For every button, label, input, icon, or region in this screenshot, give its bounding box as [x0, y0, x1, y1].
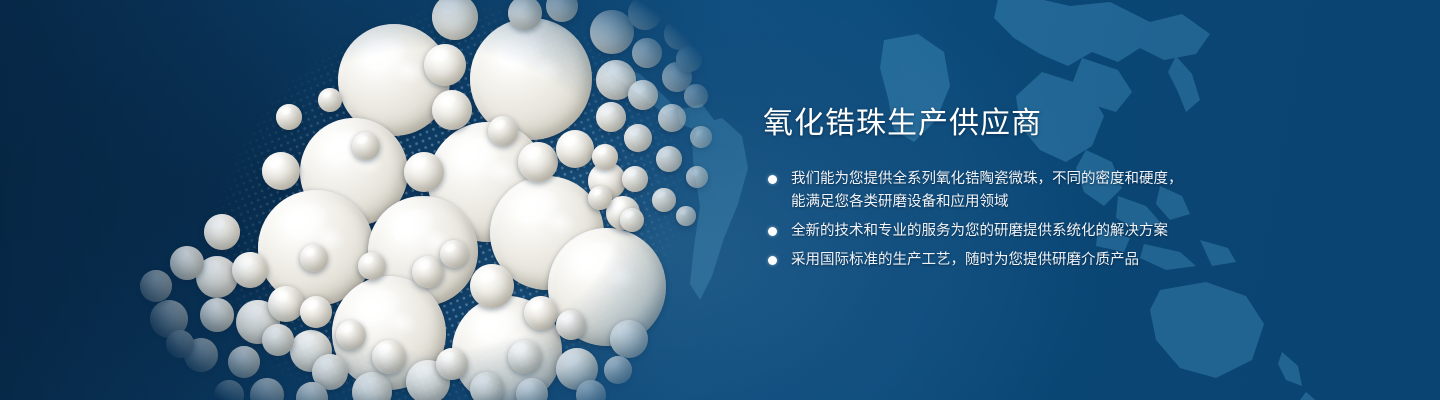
feature-list: 我们能为您提供全系列氧化锆陶瓷微珠，不同的密度和硬度， 能满足您各类研磨设备和应… [763, 168, 1383, 272]
page-title: 氧化锆珠生产供应商 [763, 104, 1383, 144]
list-item-line: 全新的技术和专业的服务为您的研磨提供系统化的解决方案 [791, 220, 1383, 243]
list-item: 我们能为您提供全系列氧化锆陶瓷微珠，不同的密度和硬度， 能满足您各类研磨设备和应… [763, 168, 1383, 214]
banner-copy: 氧化锆珠生产供应商 我们能为您提供全系列氧化锆陶瓷微珠，不同的密度和硬度， 能满… [763, 104, 1383, 278]
bullet-dot-icon [768, 227, 777, 236]
list-item-line: 采用国际标准的生产工艺，随时为您提供研磨介质产品 [791, 249, 1383, 272]
hero-banner: 氧化锆珠生产供应商 我们能为您提供全系列氧化锆陶瓷微珠，不同的密度和硬度， 能满… [0, 0, 1440, 400]
list-item: 采用国际标准的生产工艺，随时为您提供研磨介质产品 [763, 249, 1383, 272]
list-item-line: 能满足您各类研磨设备和应用领域 [791, 191, 1383, 214]
list-item: 全新的技术和专业的服务为您的研磨提供系统化的解决方案 [763, 220, 1383, 243]
zirconia-beads-photo [0, 0, 760, 400]
bullet-dot-icon [768, 256, 777, 265]
bullet-dot-icon [768, 175, 777, 184]
list-item-line: 我们能为您提供全系列氧化锆陶瓷微珠，不同的密度和硬度， [791, 168, 1383, 191]
